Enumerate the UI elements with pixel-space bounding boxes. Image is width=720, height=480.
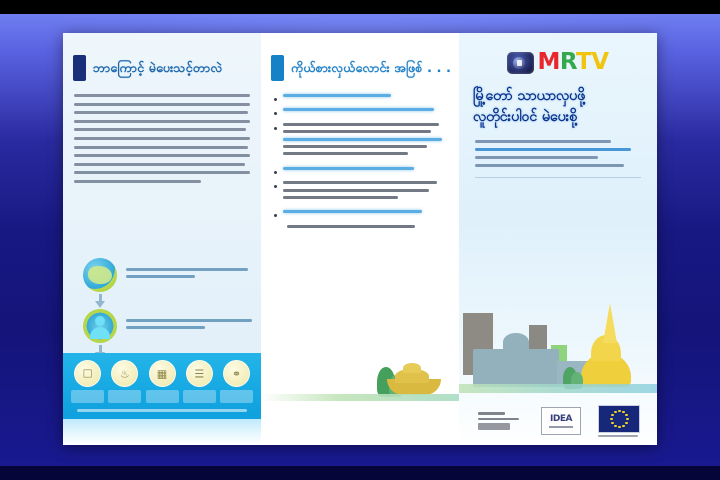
eu-star-icon xyxy=(610,418,613,421)
duties-icon-list: ☐ ♨ ▦ ☰ ⚭ xyxy=(63,353,261,403)
waste-bin-icon: ☐ xyxy=(74,360,101,387)
step-democracy-logo xyxy=(478,412,524,430)
skyline-ground-middle xyxy=(261,394,459,401)
right-panel-headline: မြို့တော် သာယာလှပဖို့ လူတိုင်းပါဝင် မဲပေ… xyxy=(473,86,643,128)
duty-item: ▦ xyxy=(146,360,179,403)
eu-star-icon xyxy=(611,414,614,417)
eu-star-icon xyxy=(622,411,625,414)
partner-logos: IDEA xyxy=(459,405,657,437)
list-item xyxy=(274,108,447,115)
list-item xyxy=(274,210,447,217)
candidate-requirements-list xyxy=(274,94,447,232)
mrtv-globe-icon xyxy=(507,52,534,74)
european-union-logo xyxy=(598,405,638,437)
road-icon: ⚭ xyxy=(223,360,250,387)
duty-label xyxy=(71,390,104,403)
mrtv-letter-r: R xyxy=(560,49,576,75)
bullet-icon xyxy=(274,185,277,188)
eu-flag-icon xyxy=(598,405,640,433)
flow-step xyxy=(83,258,253,292)
headline-line-2: လူတိုင်းပါဝင် မဲပေးစို့ xyxy=(473,107,643,128)
eu-logo-caption xyxy=(598,435,638,437)
bullet-icon xyxy=(274,98,277,101)
eu-star-icon xyxy=(618,426,621,429)
accent-bar xyxy=(271,55,284,81)
left-panel-flow-diagram xyxy=(83,258,253,360)
accent-bar xyxy=(73,55,86,81)
letterbox-bottom xyxy=(0,466,720,480)
divider xyxy=(475,177,641,178)
flow-step-label xyxy=(126,268,253,282)
eu-star-icon xyxy=(611,422,614,425)
duty-label xyxy=(108,390,141,403)
eu-star-icon xyxy=(614,411,617,414)
left-panel-heading: ဘာကြောင့် မဲပေးသင့်တာလဲ xyxy=(93,62,222,75)
mrtv-letter-v: V xyxy=(591,49,608,75)
flow-step xyxy=(83,309,253,343)
idea-wordmark: IDEA xyxy=(550,415,572,424)
mrtv-logo: MRTV xyxy=(459,33,657,74)
duty-item: ☰ xyxy=(183,360,216,403)
duties-note xyxy=(77,409,247,412)
arrow-down-icon xyxy=(83,294,117,308)
left-panel-body-text xyxy=(74,94,250,183)
duty-label xyxy=(183,390,216,403)
right-panel-subtext xyxy=(475,140,641,167)
secretariat-building-icon xyxy=(473,349,559,387)
duty-label xyxy=(146,390,179,403)
duties-icon-band: ☐ ♨ ▦ ☰ ⚭ xyxy=(63,353,261,419)
letterbox-top xyxy=(0,0,720,14)
building-icon: ▦ xyxy=(149,360,176,387)
bullet-icon xyxy=(274,171,277,174)
duty-item: ♨ xyxy=(108,360,141,403)
list-footnote xyxy=(287,225,447,232)
brochure-sheet: ဘာကြောင့် မဲပေးသင့်တာလဲ xyxy=(63,33,657,445)
bullet-icon xyxy=(274,214,277,217)
middle-panel-header: ကိုယ်စားလှယ်လောင်း အဖြစ် . . . xyxy=(261,33,459,81)
bullet-icon xyxy=(274,112,277,115)
person-icon xyxy=(83,309,117,343)
duty-label xyxy=(220,390,253,403)
skyline-ground xyxy=(459,384,657,393)
bullet-icon xyxy=(274,127,277,130)
mrtv-letter-m: M xyxy=(537,49,559,75)
mrtv-wordmark: MRTV xyxy=(537,51,608,74)
brochure-panel-left: ဘာကြောင့် မဲပေးသင့်တာလဲ xyxy=(63,33,261,445)
middle-panel-heading: ကိုယ်စားလှယ်လောင်း အဖြစ် . . . xyxy=(291,62,451,75)
globe-icon xyxy=(83,258,117,292)
yangon-skyline-illustration xyxy=(459,283,657,393)
list-item xyxy=(274,94,447,101)
eu-star-icon xyxy=(614,425,617,428)
karaweik-spire xyxy=(403,363,421,373)
international-idea-logo: IDEA xyxy=(541,407,581,435)
list-item xyxy=(274,167,447,174)
shwedagon-pagoda-icon xyxy=(577,303,635,387)
eu-star-icon xyxy=(625,422,628,425)
brochure-panel-middle: ကိုယ်စားလှယ်လောင်း အဖြစ် . . . xyxy=(261,33,459,445)
eu-star-icon xyxy=(626,418,629,421)
water-tap-icon: ♨ xyxy=(111,360,138,387)
brochure-panel-right: MRTV မြို့တော် သာယာလှပဖို့ လူတိုင်းပါဝင်… xyxy=(459,33,657,445)
panel-bottom-fade xyxy=(63,419,261,445)
video-frame: ဘာကြောင့် မဲပေးသင့်တာလဲ xyxy=(0,0,720,480)
mrtv-letter-t: T xyxy=(576,49,591,75)
market-icon: ☰ xyxy=(186,360,213,387)
eu-star-icon xyxy=(625,414,628,417)
building-dome xyxy=(503,333,529,351)
eu-star-icon xyxy=(622,425,625,428)
list-item xyxy=(274,181,447,203)
left-panel-header: ဘာကြောင့် မဲပေးသင့်တာလဲ xyxy=(63,33,261,81)
headline-line-1: မြို့တော် သာယာလှပဖို့ xyxy=(473,88,585,104)
list-item xyxy=(274,123,447,160)
duty-item: ☐ xyxy=(71,360,104,403)
flow-step-label xyxy=(126,319,253,333)
duty-item: ⚭ xyxy=(220,360,253,403)
eu-star-icon xyxy=(618,410,621,413)
skyline-middle-overlap xyxy=(381,341,459,401)
